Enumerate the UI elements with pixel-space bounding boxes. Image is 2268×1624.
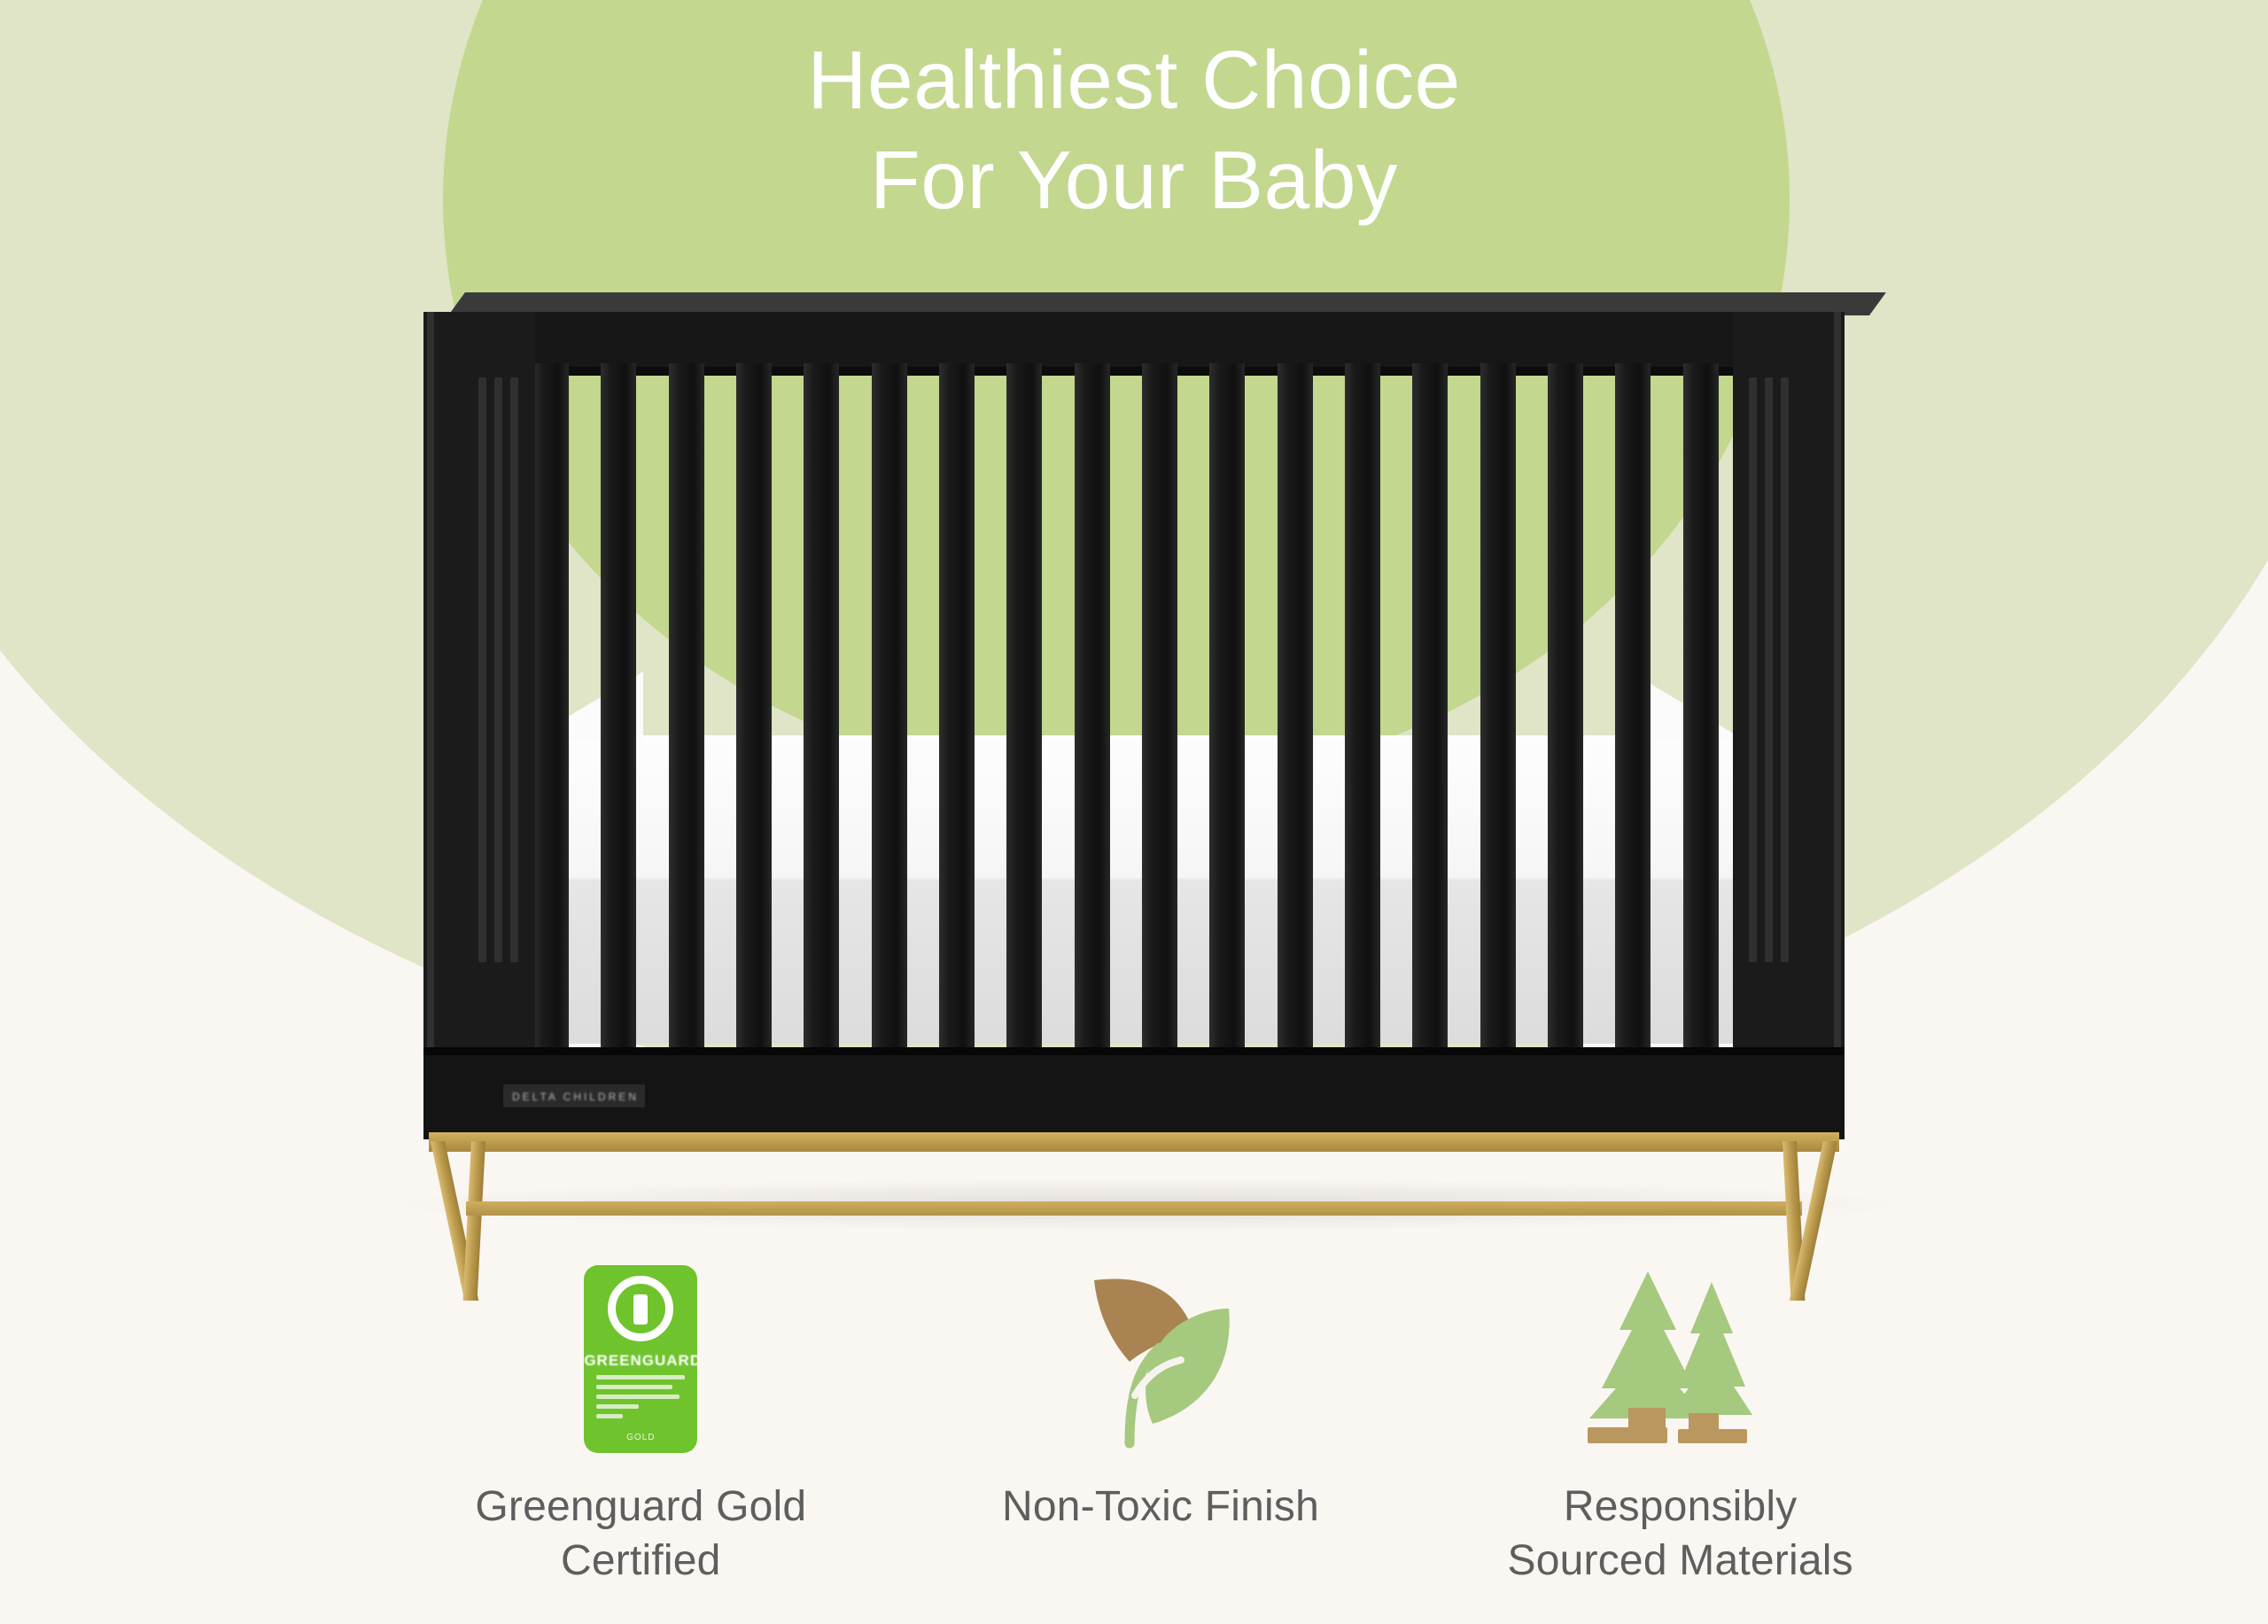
crib-end-edge-left	[427, 312, 434, 1047]
crib-slat	[804, 363, 839, 1047]
leaf-icon	[1068, 1258, 1254, 1460]
crib-end-panel-left	[423, 312, 535, 1047]
promo-banner: Healthiest Choice For Your Baby	[0, 0, 2268, 1624]
crib-slat	[939, 363, 975, 1047]
crib-end-panel-right	[1733, 312, 1845, 1047]
crib-end-inner-slat	[494, 377, 502, 962]
crib-end-inner-slat	[1781, 377, 1789, 962]
crib-slat	[872, 363, 907, 1047]
brand-plate-text: DELTA CHILDREN	[512, 1091, 639, 1103]
pine-trees-icon	[1579, 1258, 1783, 1460]
crib-leg-rail-lower	[466, 1201, 1802, 1216]
feature-label-greenguard: Greenguard Gold Certified	[475, 1480, 806, 1589]
crib-end-inner-slat	[510, 377, 518, 962]
crib-slat	[1142, 363, 1177, 1047]
greenguard-wordmark: GREENGUARD	[584, 1352, 697, 1370]
crib-end-inner-slat	[1765, 377, 1773, 962]
greenguard-badge: GREENGUARD GOLD	[584, 1265, 697, 1453]
crib-end-inner-slat	[1749, 377, 1757, 962]
crib-slat	[1683, 363, 1719, 1047]
greenguard-badge-footer: GOLD	[584, 1433, 697, 1442]
crib-slat	[1006, 363, 1042, 1047]
crib-lower-panel: DELTA CHILDREN	[423, 1047, 1845, 1139]
headline-line-1: Healthiest Choice	[0, 30, 2268, 130]
feature-label-responsibly-sourced: Responsibly Sourced Materials	[1508, 1480, 1853, 1589]
greenguard-body-text-lines	[596, 1375, 685, 1424]
crib-slats	[528, 363, 1745, 1047]
crib-end-inner-slat	[478, 377, 486, 962]
crib-slat	[1480, 363, 1516, 1047]
greenguard-gold-badge-icon: GREENGUARD GOLD	[584, 1258, 697, 1460]
crib-slat	[1412, 363, 1448, 1047]
crib-slat	[1345, 363, 1380, 1047]
brand-plate: DELTA CHILDREN	[503, 1084, 645, 1107]
crib-slat	[601, 363, 636, 1047]
crib-slat	[1209, 363, 1245, 1047]
crib-slat	[533, 363, 569, 1047]
crib-end-edge-right	[1834, 312, 1841, 1047]
crib-slat	[1278, 363, 1313, 1047]
page-title: Healthiest Choice For Your Baby	[0, 30, 2268, 231]
headline-line-2: For Your Baby	[0, 130, 2268, 230]
feature-greenguard-gold-certified: GREENGUARD GOLD Greenguard Gold Certifie…	[381, 1258, 901, 1589]
feature-non-toxic-finish: Non-Toxic Finish	[901, 1258, 1421, 1534]
product-image-crib: DELTA CHILDREN	[423, 292, 1869, 1232]
crib-slat	[1548, 363, 1583, 1047]
feature-list: GREENGUARD GOLD Greenguard Gold Certifie…	[381, 1258, 1940, 1612]
crib-slat	[1615, 363, 1651, 1047]
greenguard-logo-icon	[608, 1276, 673, 1341]
feature-label-non-toxic: Non-Toxic Finish	[1002, 1480, 1319, 1534]
crib-slat	[1075, 363, 1110, 1047]
feature-responsibly-sourced-materials: Responsibly Sourced Materials	[1420, 1258, 1940, 1589]
crib-slat	[669, 363, 704, 1047]
crib-leg-rail-top	[429, 1132, 1839, 1152]
crib-slat	[736, 363, 772, 1047]
